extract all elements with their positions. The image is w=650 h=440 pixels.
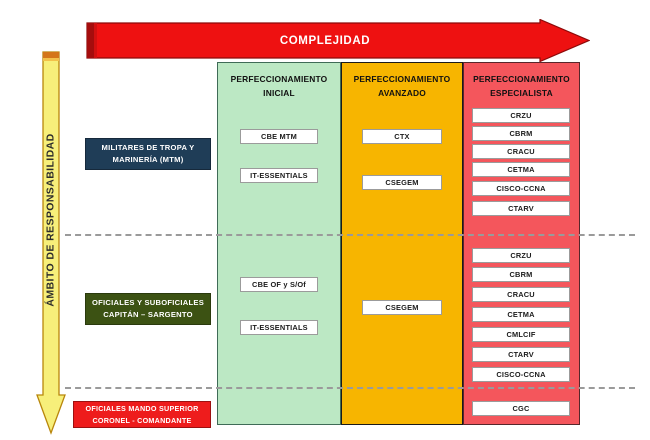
- chip-ofsof-especialista-6[interactable]: CISCO-CCNA: [472, 367, 570, 382]
- chip-ofsof-especialista-2[interactable]: CRACU: [472, 287, 570, 302]
- role-cor-line2: CORONEL - COMANDANTE: [92, 415, 191, 426]
- chip-mtm-avanzado-0[interactable]: CTX: [362, 129, 442, 144]
- chip-mtm-inicial-1[interactable]: IT-ESSENTIALS: [240, 168, 318, 183]
- chip-mtm-especialista-4[interactable]: CISCO-CCNA: [472, 181, 570, 196]
- chip-cor-especialista-0[interactable]: CGC: [472, 401, 570, 416]
- column-avanzado: [341, 62, 463, 425]
- chip-mtm-especialista-5[interactable]: CTARV: [472, 201, 570, 216]
- responsabilidad-arrow: [36, 50, 66, 435]
- chip-ofsof-especialista-1[interactable]: CBRM: [472, 267, 570, 282]
- chip-ofsof-especialista-3[interactable]: CETMA: [472, 307, 570, 322]
- role-box-mando-superior: OFICIALES MANDO SUPERIOR CORONEL - COMAN…: [73, 401, 211, 428]
- role-ofsof-line2: CAPITÁN – SARGENTO: [103, 309, 193, 321]
- chip-ofsof-inicial-0[interactable]: CBE OF y S/Of: [240, 277, 318, 292]
- chip-mtm-especialista-3[interactable]: CETMA: [472, 162, 570, 177]
- role-mtm-line1: MILITARES DE TROPA Y: [102, 142, 195, 154]
- role-cor-line1: OFICIALES MANDO SUPERIOR: [85, 403, 198, 414]
- role-mtm-line2: MARINERÍA (MTM): [113, 154, 184, 166]
- complejidad-arrow: [85, 19, 590, 62]
- chip-ofsof-especialista-0[interactable]: CRZU: [472, 248, 570, 263]
- band-separator-2: [65, 387, 635, 389]
- role-ofsof-line1: OFICIALES Y SUBOFICIALES: [92, 297, 204, 309]
- role-box-oficiales-suboficiales: OFICIALES Y SUBOFICIALES CAPITÁN – SARGE…: [85, 293, 211, 325]
- chip-ofsof-avanzado-0[interactable]: CSEGEM: [362, 300, 442, 315]
- chip-mtm-especialista-1[interactable]: CBRM: [472, 126, 570, 141]
- chip-mtm-especialista-2[interactable]: CRACU: [472, 144, 570, 159]
- chip-mtm-inicial-0[interactable]: CBE MTM: [240, 129, 318, 144]
- column-inicial: [217, 62, 341, 425]
- role-box-mtm: MILITARES DE TROPA Y MARINERÍA (MTM): [85, 138, 211, 170]
- chip-mtm-especialista-0[interactable]: CRZU: [472, 108, 570, 123]
- diagram-canvas: COMPLEJIDAD ÁMBITO DE RESPONSABILIDAD PE…: [0, 0, 650, 440]
- chip-mtm-avanzado-1[interactable]: CSEGEM: [362, 175, 442, 190]
- band-separator-1: [65, 234, 635, 236]
- chip-ofsof-inicial-1[interactable]: IT-ESSENTIALS: [240, 320, 318, 335]
- chip-ofsof-especialista-4[interactable]: CMLCIF: [472, 327, 570, 342]
- chip-ofsof-especialista-5[interactable]: CTARV: [472, 347, 570, 362]
